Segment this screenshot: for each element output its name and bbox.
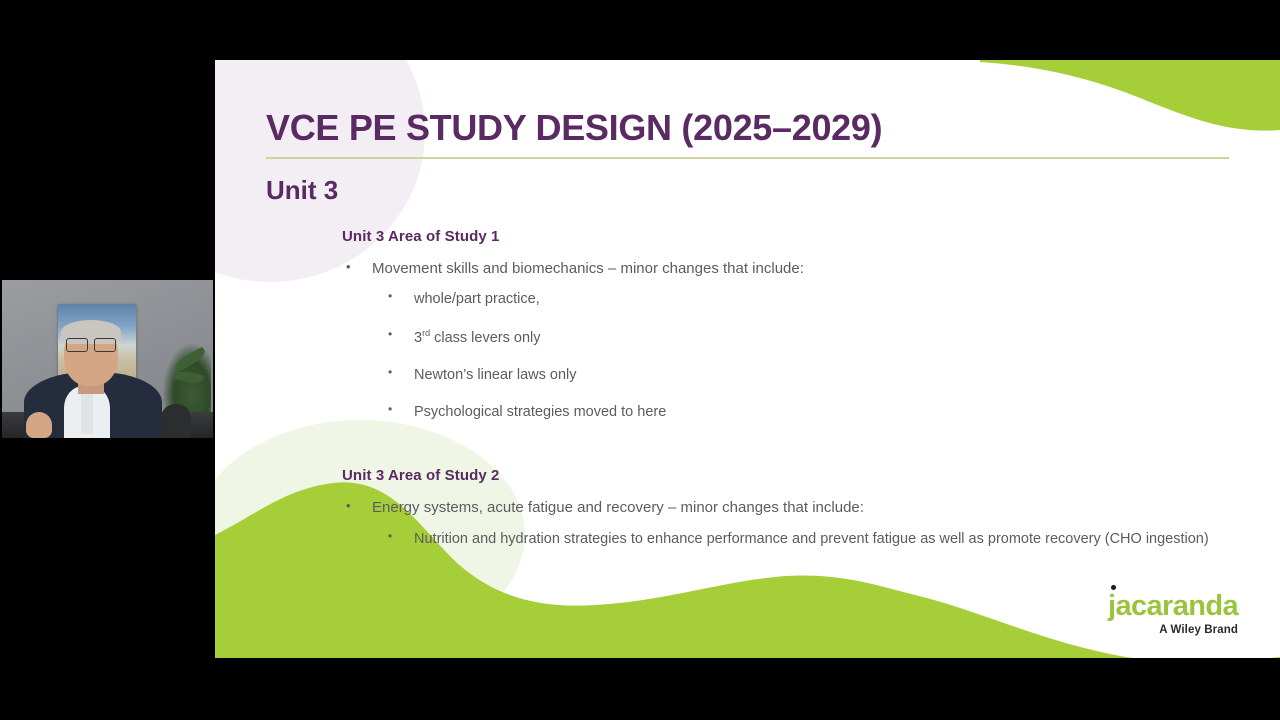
title-divider	[266, 157, 1229, 159]
sub-bullet-list: Nutrition and hydration strategies to en…	[342, 529, 1242, 549]
bullet-level-2-superscript: 3rd class levers only	[342, 327, 1242, 348]
bullet-level-2: whole/part practice,	[342, 289, 1242, 309]
bullet-level-1: Energy systems, acute fatigue and recove…	[342, 498, 1242, 518]
bullet-level-1: Movement skills and biomechanics – minor…	[342, 259, 1242, 279]
section-area-of-study-2: Unit 3 Area of Study 2 Energy systems, a…	[342, 467, 1242, 549]
page-title: VCE PE STUDY DESIGN (2025–2029)	[266, 107, 882, 149]
bullet-level-2: Psychological strategies moved to here	[342, 402, 1242, 422]
presentation-slide[interactable]: VCE PE STUDY DESIGN (2025–2029) Unit 3 U…	[215, 60, 1280, 658]
lever-number: 3	[414, 329, 422, 345]
bullet-level-2: Nutrition and hydration strategies to en…	[342, 529, 1242, 549]
webcam-presenter-glasses	[66, 338, 116, 350]
section-heading: Unit 3 Area of Study 2	[342, 467, 1242, 484]
jacaranda-logo: jacaranda A Wiley Brand	[1108, 592, 1238, 636]
screen-recording-frame: VCE PE STUDY DESIGN (2025–2029) Unit 3 U…	[0, 0, 1280, 720]
slide-subtitle: Unit 3	[266, 175, 338, 206]
lever-text: class levers only	[430, 329, 540, 345]
logo-j-dot	[1111, 585, 1116, 590]
bullet-level-2: Newton’s linear laws only	[342, 365, 1242, 385]
section-spacer	[342, 439, 1242, 467]
logo-tagline: A Wiley Brand	[1108, 624, 1238, 636]
logo-wordmark: jacaranda	[1108, 592, 1238, 621]
sub-bullet-list: whole/part practice, 3rd class levers on…	[342, 289, 1242, 422]
webcam-microphone	[161, 404, 191, 438]
presenter-webcam-thumbnail[interactable]	[2, 280, 213, 438]
ordinal-suffix: rd	[422, 328, 430, 338]
slide-body: Unit 3 Area of Study 1 Movement skills a…	[342, 228, 1242, 555]
webcam-presenter-hand	[26, 412, 52, 438]
section-heading: Unit 3 Area of Study 1	[342, 228, 1242, 245]
decorative-green-wave-top	[980, 60, 1280, 138]
section-area-of-study-1: Unit 3 Area of Study 1 Movement skills a…	[342, 228, 1242, 422]
